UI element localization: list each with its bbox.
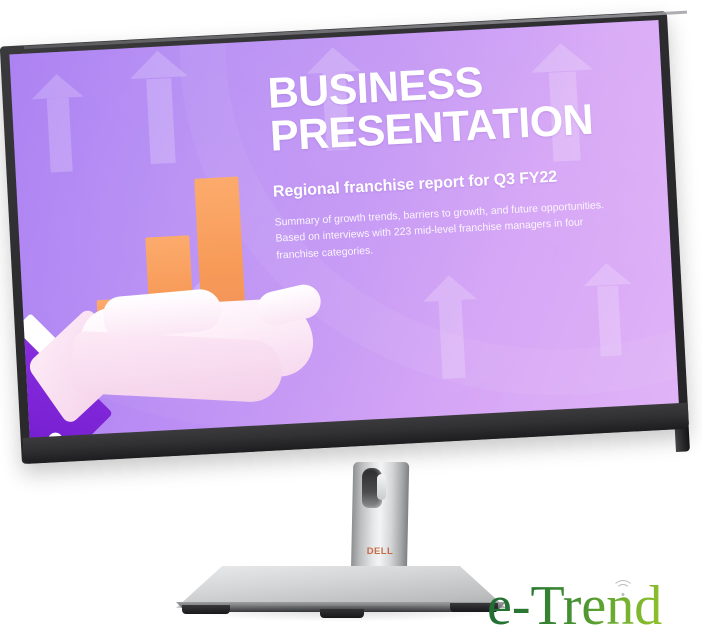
arrow-shaft <box>439 300 466 379</box>
dell-brand-logo: DELL <box>350 546 410 557</box>
arrow-up-7-icon <box>581 262 635 358</box>
stand-shadow <box>178 606 508 622</box>
arrow-head <box>422 274 477 302</box>
slide-subtitle: Regional franchise report for Q3 FY22 <box>273 164 653 202</box>
wifi-dot <box>622 593 625 596</box>
arrow-shaft <box>146 78 176 164</box>
slide-title: BUSINESS PRESENTATION <box>267 53 651 158</box>
product-photo-stage: BUSINESS PRESENTATION Regional franchise… <box>0 0 702 640</box>
arrow-up-6-icon <box>422 274 482 380</box>
wifi-icon <box>612 580 634 596</box>
arrow-head <box>30 73 83 100</box>
palm-shade <box>71 331 284 404</box>
slide-text-block: BUSINESS PRESENTATION Regional franchise… <box>267 53 657 264</box>
monitor-screen: BUSINESS PRESENTATION Regional franchise… <box>9 20 679 442</box>
presentation-slide: BUSINESS PRESENTATION Regional franchise… <box>9 20 679 442</box>
stand-base-top <box>176 566 506 608</box>
arrow-up-2-icon <box>127 49 193 165</box>
arrow-shaft <box>597 285 622 356</box>
etrend-watermark: e-Trend <box>487 578 662 634</box>
arrow-head <box>582 262 631 287</box>
dell-monitor: BUSINESS PRESENTATION Regional franchise… <box>0 0 702 500</box>
arrow-head <box>128 49 187 79</box>
cable-hole-highlight <box>377 474 386 500</box>
fingertips <box>254 281 324 329</box>
open-hand <box>46 273 320 437</box>
